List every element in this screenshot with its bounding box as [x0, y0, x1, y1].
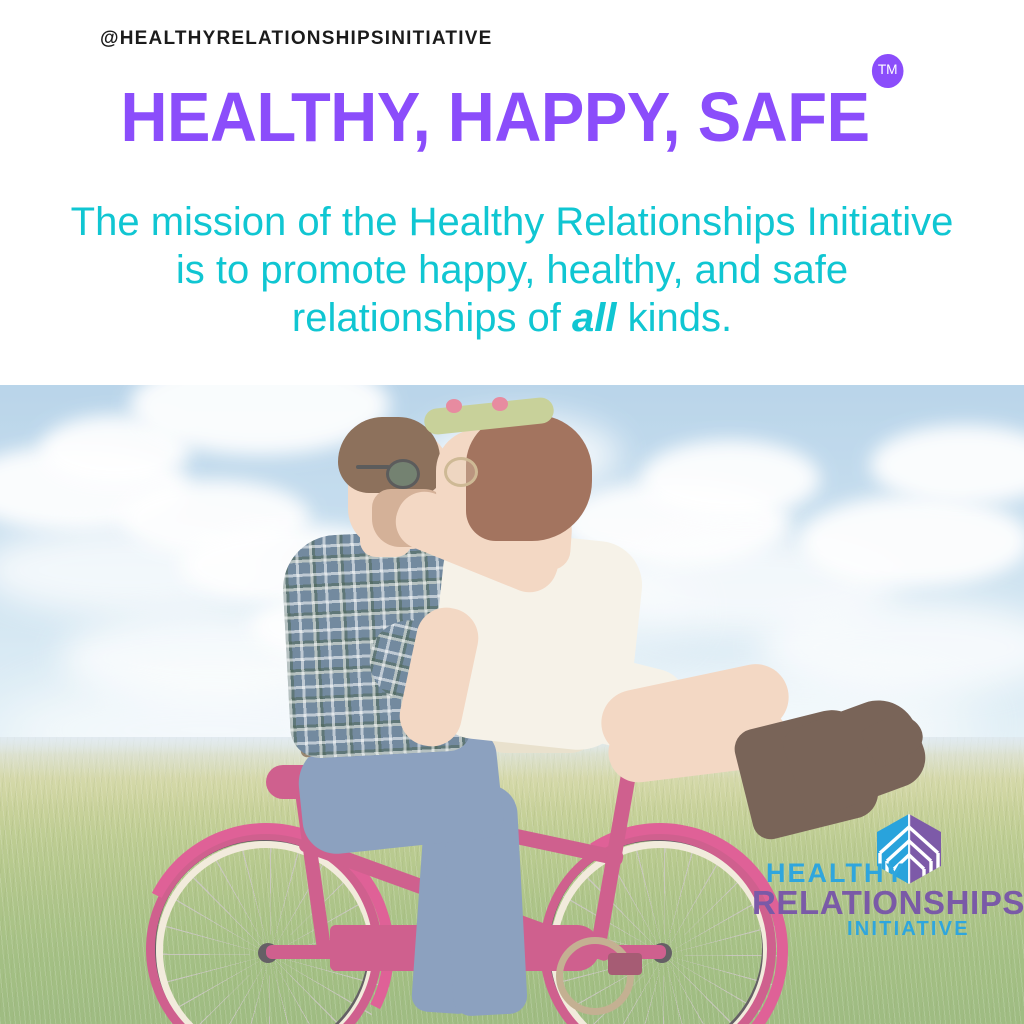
- bicycle-pedal: [608, 953, 642, 975]
- headline-label: HEALTHY, HAPPY, SAFE: [121, 78, 870, 156]
- man-sunglasses-icon: [386, 459, 420, 489]
- woman-flower-accent-icon: [446, 399, 462, 413]
- trademark-label: TM: [871, 62, 904, 76]
- woman-flower-accent-icon: [492, 397, 508, 411]
- mission-text-part1: The mission of the Healthy Relationships…: [71, 200, 954, 340]
- logo-line-relationships: RELATIONSHIPS: [752, 884, 1024, 922]
- brand-logo[interactable]: HEALTHY RELATIONSHIPS INITIATIVE: [752, 813, 992, 933]
- header-text-block: @HEALTHYRELATIONSHIPSINITIATIVE HEALTHY,…: [0, 0, 1024, 385]
- mission-text-part2: kinds.: [617, 296, 733, 340]
- bicycle-chainring: [556, 937, 634, 1015]
- poster-canvas: @HEALTHYRELATIONSHIPSINITIATIVE HEALTHY,…: [0, 0, 1024, 1024]
- logo-line-initiative: INITIATIVE: [847, 918, 970, 941]
- hero-photo: HEALTHY RELATIONSHIPS INITIATIVE: [0, 385, 1024, 1024]
- trademark-badge-icon: TM: [872, 54, 904, 88]
- headline-text: HEALTHY, HAPPY, SAFETM: [121, 82, 904, 152]
- social-handle: @HEALTHYRELATIONSHIPSINITIATIVE: [100, 28, 492, 50]
- man-sunglasses-bridge: [356, 465, 390, 469]
- woman-boot-front: [778, 689, 934, 821]
- woman-hair: [466, 415, 592, 541]
- headline-container: HEALTHY, HAPPY, SAFETM: [0, 82, 1024, 152]
- mission-emphasis-all: all: [572, 296, 616, 340]
- woman-sunglasses-icon: [444, 457, 478, 487]
- mission-statement: The mission of the Healthy Relationships…: [70, 198, 954, 342]
